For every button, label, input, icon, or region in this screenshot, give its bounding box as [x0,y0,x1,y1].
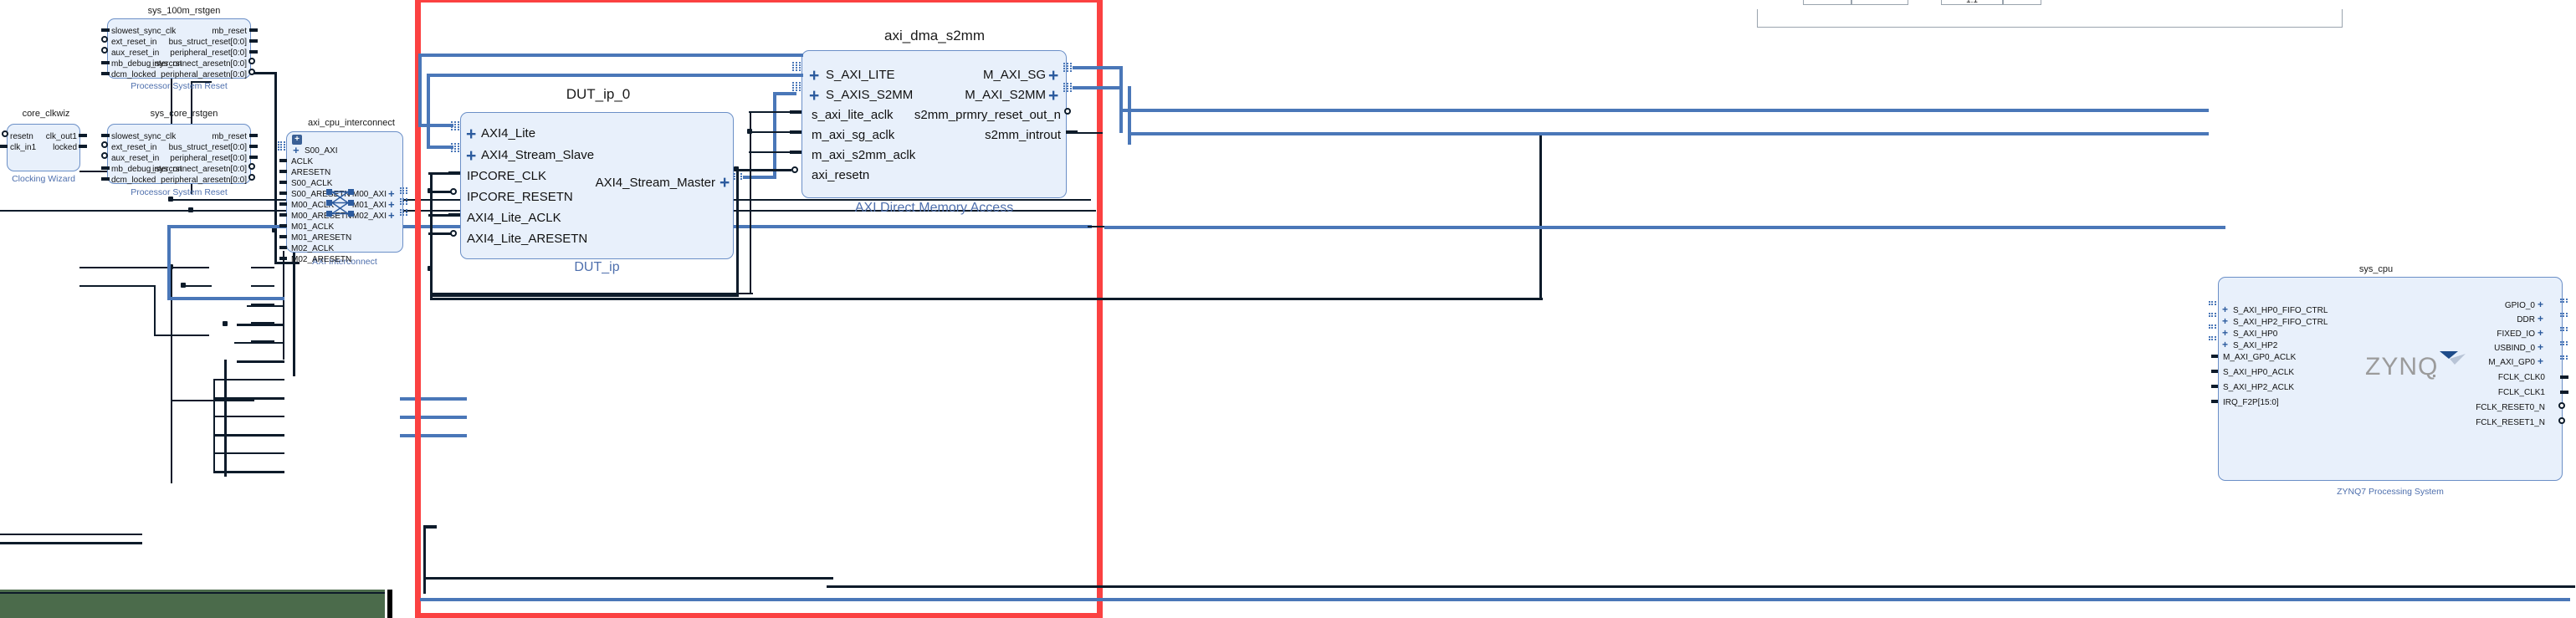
bus-m01axi [400,416,467,419]
wire-clkwiz-down [171,267,172,334]
sys-core-rstgen-title: sys_core_rstgen [109,109,259,119]
zynq-logo: ZYNQ [2365,353,2438,381]
toolbar-fragment-mid[interactable] [1851,0,1908,5]
canvas-top-strip [1757,9,2343,28]
sys-cpu-subtitle: ZYNQ7 Processing System [2218,487,2563,497]
toolbar-fragment-left[interactable] [1803,0,1851,5]
pin-zynq-fclk-reset0-bubble [2558,402,2565,409]
axi-dma-s2mm-subtitle: AXI Direct Memory Access [801,201,1067,216]
port-clkwiz-resetn[interactable]: resetn [10,133,33,141]
wire-dma-axi-resetn-h2 [431,294,739,297]
busstub-dma-s-axi-lite [792,62,801,71]
wire-left-bottom-riser [423,525,426,594]
port-zynq-fclk-reset1-n[interactable]: FCLK_RESET1_N [2401,419,2545,427]
wire-junction-b [188,207,193,212]
port-syscore-interconnect-aresetn[interactable]: interconnect_aresetn[0:0] [142,166,247,174]
busstub-zynq-hp2-fifo [2209,313,2216,317]
pin-icx-s00aclk [279,181,287,184]
pin-dma-m-axi-sg-aclk [790,130,801,134]
pin-syscore-in-4 [101,177,110,181]
pin-dma-m-axi-s2mm-aclk [790,151,801,154]
wire-locked-h2 [154,335,209,336]
sys-core-rstgen-subtitle: Processor System Reset [107,187,251,197]
pin-zynq-irq-f2p [2211,400,2218,403]
busstub-icx-m00-axi [400,187,407,194]
port-sys100m-bus-struct-reset[interactable]: bus_struct_reset[0:0] [151,38,247,47]
bus-plus-ddr[interactable]: + [2538,314,2543,324]
pin-syscore-in-3 [101,166,110,170]
port-dut-axi4-lite-aresetn[interactable]: AXI4_Lite_ARESETN [467,232,587,245]
toolbar-fragment-right[interactable] [2003,0,2041,5]
port-icx-m02-aresetn[interactable]: M02_ARESETN [291,256,351,264]
pin-clkwiz-clkout1 [79,134,87,137]
busstub-icx-s00-axi [278,141,285,151]
pin-zynq-s-axi-hp0-aclk [2211,370,2218,373]
port-syscore-peripheral-reset[interactable]: peripheral_reset[0:0] [151,155,247,163]
wire-icx-aresetn [237,324,284,326]
sys-cpu-title: sys_cpu [2251,264,2502,274]
pin-zynq-fclk-clk1 [2560,391,2568,394]
pin-clkwiz-locked [79,145,87,148]
core-clkwiz-subtitle: Clocking Wizard [7,174,80,184]
bus-plus-s-axi-lite[interactable]: + [809,67,819,84]
port-dma-s2mm-introut[interactable]: s2mm_introut [878,129,1061,141]
wire-bottom-black [827,585,2575,588]
sys-100m-rstgen-title: sys_100m_rstgen [109,6,259,16]
busstub-zynq-hp0 [2209,324,2216,329]
wire-bottom-left-long [0,592,385,594]
green-marker-swatch [0,590,385,618]
pin-dma-axi-resetn-bubble [791,166,798,173]
wire-left-bottom-4 [423,577,833,580]
pin-sys100m-out-2 [249,50,258,54]
bus-dma-sg-out [1073,66,1123,69]
port-dma-s2mm-prmry-reset-out-n[interactable]: s2mm_prmry_reset_out_n [878,109,1061,121]
pin-dma-s2mm-reset-out-bubble [1064,108,1071,115]
bus-plus-m02-axi[interactable]: + [388,210,395,221]
bus-stream-master-h2 [773,92,796,95]
wire-core-bottom [171,400,254,401]
bus-plus-m-axi-gp0[interactable]: + [2538,356,2543,366]
port-icx-s00-axi[interactable]: S00_AXI [305,147,337,156]
bus-m00-to-dut-lite-h [418,124,453,127]
block-design-canvas[interactable]: 1:1 [0,0,2576,618]
port-zynq-s-axi-hp0-aclk[interactable]: S_AXI_HP0_ACLK [2223,369,2294,377]
wire-core-down [171,333,172,483]
bus-plus-s-axi-hp0[interactable]: + [2222,328,2228,338]
pin-sys100m-in-2-bubble [101,47,108,54]
pin-icx-s00aresetn [279,192,287,195]
wire-locked-h [79,285,155,287]
port-dma-m-axi-s2mm-aclk[interactable]: m_axi_s2mm_aclk [812,149,915,161]
pin-sys100m-in-1-bubble [101,36,108,43]
wire-icx-s00aclk [234,342,284,344]
busstub-zynq-m-axi-gp0 [2560,355,2568,360]
port-zynq-fclk-clk1[interactable]: FCLK_CLK1 [2410,389,2545,397]
pin-dma-s-axi-lite-aclk [790,110,801,114]
port-dut-axi4-lite-aclk[interactable]: AXI4_Lite_ACLK [467,212,561,224]
wire-corerst-ext [183,285,212,287]
bus-m00-to-dut-lite-top [418,54,803,57]
bus-plus-s-axi-hp2-fifo-ctrl[interactable]: + [2222,316,2228,326]
zynq-logo-tick-icon [2438,350,2466,366]
wire-left-bottom-2 [0,542,142,544]
bus-plus-s-axi-hp2[interactable]: + [2222,340,2228,350]
port-clkwiz-clk-in1[interactable]: clk_in1 [10,144,36,152]
bus-zynq-gp0-return [1104,226,2225,229]
port-dut-ipcore-resetn[interactable]: IPCORE_RESETN [467,191,573,203]
port-dma-axi-resetn[interactable]: axi_resetn [812,169,869,181]
wire-peri-aresetn-v [274,72,277,264]
port-dut-axi4-stream-master[interactable]: AXI4_Stream_Master [544,176,715,189]
bus-stream-master-h [743,176,776,179]
wire-introut-out [1078,132,1103,134]
dut-ip-0-subtitle: DUT_ip [460,260,734,275]
wire-bottom-return-1 [430,298,1543,300]
bus-plus-usbind-0[interactable]: + [2538,342,2543,352]
pin-sys100m-out-1 [249,39,258,43]
wire-icx-bus-2 [293,251,295,376]
bus-m00-to-dut-slave-top [427,74,803,77]
bus-plus-fixed-io[interactable]: + [2538,328,2543,338]
bus-stream-master-v [773,92,776,178]
bus-dma-right-riser-2 [1128,86,1131,145]
port-dma-m-axi-sg[interactable]: M_AXI_SG [912,69,1046,81]
pin-clkwiz-clkin1 [0,145,8,148]
bus-dma-right-riser-1 [1119,66,1123,133]
bus-s00axi-in-h2 [167,297,284,300]
busstub-dma-m-axi-sg [1063,63,1073,72]
busstub-dma-m-axi-s2mm [1063,83,1073,92]
port-dma-s-axis-s2mm[interactable]: S_AXIS_S2MM [826,89,913,101]
port-zynq-s-axi-hp2-aclk[interactable]: S_AXI_HP2_ACLK [2223,384,2294,392]
axi-cpu-interconnect-title: axi_cpu_interconnect [284,118,418,128]
axi-dma-s2mm-title: axi_dma_s2mm [801,28,1068,44]
port-zynq-ddr[interactable]: DDR [2410,316,2535,324]
port-zynq-s-axi-hp0[interactable]: S_AXI_HP0 [2233,330,2277,339]
port-icx-m01-aresetn[interactable]: M01_ARESETN [291,234,351,243]
port-sys100m-peripheral-aresetn[interactable]: peripheral_aresetn[0:0] [142,71,247,79]
bus-plus-m-axi-s2mm[interactable]: + [1048,87,1058,105]
pin-icx-aclk [279,159,287,162]
busstub-icx-m01-axi [400,198,407,205]
bus-plus-axi4-stream-slave[interactable]: + [466,147,476,165]
pin-sys100m-in-3 [101,61,110,64]
busstub-zynq-fixedio [2560,327,2568,331]
pin-sys100m-out-0 [249,28,258,32]
sys-100m-rstgen-subtitle: Processor System Reset [107,81,251,91]
busstub-zynq-hp0-fifo [2209,301,2216,305]
bus-plus-gpio-0[interactable]: + [2538,299,2543,309]
bus-plus-s-axi-hp0-fifo-ctrl[interactable]: + [2222,304,2228,314]
bus-plus-m-axi-sg[interactable]: + [1048,67,1058,84]
busstub-zynq-usbind0 [2560,341,2568,345]
pin-syscore-out-0 [249,134,258,137]
port-syscore-bus-struct-reset[interactable]: bus_struct_reset[0:0] [151,144,247,152]
port-icx-m02-aclk[interactable]: M02_ACLK [291,245,334,253]
port-sys100m-interconnect-aresetn[interactable]: interconnect_aresetn[0:0] [142,60,247,69]
port-syscore-peripheral-aresetn[interactable]: peripheral_aresetn[0:0] [142,176,247,185]
dut-ip-0-title: DUT_ip_0 [460,86,736,103]
wire-junction-dut-2 [428,266,433,271]
wire-dma-axi-resetn [736,169,791,171]
wire-core-out1 [251,267,274,268]
wire-icx-aclk [247,305,284,307]
port-zynq-s-axi-hp0-fifo-ctrl[interactable]: S_AXI_HP0_FIFO_CTRL [2233,307,2328,315]
pin-icx-m02aresetn [279,257,287,260]
wire-icx-left-bundle-2 [224,360,227,477]
port-clkwiz-locked[interactable]: locked [33,144,77,152]
port-clkwiz-clk-out1[interactable]: clk_out1 [33,133,77,141]
wire-junction-dut-1 [428,188,433,193]
port-zynq-irq-f2p[interactable]: IRQ_F2P[15:0] [2223,399,2279,407]
wire-core-out2 [251,285,274,287]
wire-dma-axi-resetn-v [736,169,739,296]
bus-plus-axi4-stream-master[interactable]: + [720,174,730,192]
port-icx-aresetn[interactable]: ARESETN [291,169,330,177]
pin-syscore-out-4-bubble [248,174,255,181]
pin-syscore-in-0 [101,134,110,137]
port-dut-ipcore-clk[interactable]: IPCORE_CLK [467,170,546,182]
busstub-zynq-ddr [2560,313,2568,317]
wire-dma-s2mm-aclk [749,151,791,153]
busstub-icx-m02-axi [400,209,407,216]
pin-sys100m-out-4-bubble [248,69,255,75]
bus-m00-to-dut-slave-h [427,146,453,149]
wire-icx-s00aresetn [237,360,284,363]
pin-syscore-out-2 [249,156,258,159]
port-zynq-fixed-io[interactable]: FIXED_IO [2410,330,2535,339]
wire-junction-e [181,283,186,288]
wire-dma-sg-aclk [749,131,791,133]
bus-m02axi [400,434,467,437]
zynq-logo-text: ZYNQ [2365,353,2438,381]
port-zynq-s-axi-hp2-fifo-ctrl[interactable]: S_AXI_HP2_FIFO_CTRL [2233,319,2328,327]
pin-dma-s2mm-introut [1066,130,1078,134]
busstub-dma-s-axis-s2mm [792,82,801,91]
pin-syscore-in-1-bubble [101,141,108,148]
toolbar-zoom-field[interactable]: 1:1 [1941,0,2003,5]
pin-icx-m01aclk [279,224,287,227]
busstub-zynq-gpio0 [2560,299,2568,303]
crossbar-icon [325,186,366,227]
pin-bottom-arrow [425,525,437,529]
port-zynq-fclk-reset0-n[interactable]: FCLK_RESET0_N [2401,404,2545,412]
pin-zynq-fclk-reset1-bubble [2558,417,2565,424]
pin-icx-m00aresetn [279,213,287,217]
wire-junction-dma-resetn [734,166,739,171]
wire-left-bottom-3 [0,534,142,535]
pin-sys100m-in-0 [101,28,110,32]
bus-dma-s2mm-out [1073,86,1123,89]
bus-m00axi [400,397,467,401]
port-zynq-s-axi-hp2[interactable]: S_AXI_HP2 [2233,342,2277,350]
port-sys100m-peripheral-reset[interactable]: peripheral_reset[0:0] [151,49,247,58]
port-syscore-mb-reset[interactable]: mb_reset [151,133,247,141]
bus-plus-s00-axi[interactable]: + [293,145,300,156]
pin-icx-m01aresetn [279,235,287,238]
wire-dma-clk-feed [750,151,751,294]
wire-dma-lite-aclk [749,111,791,113]
bus-bottom-inside-selection [420,598,2570,601]
pin-icx-m00aclk [279,202,287,206]
port-sys100m-mb-reset[interactable]: mb_reset [151,28,247,36]
pin-sys100m-in-4 [101,72,110,75]
busstub-zynq-hp2 [2209,336,2216,340]
bus-plus-s-axis-s2mm[interactable]: + [809,87,819,105]
pin-syscore-out-1 [249,145,258,148]
wire-bottom-return-v [1539,134,1542,299]
pin-icx-aresetn [279,170,287,173]
pin-zynq-fclk-clk0 [2560,375,2568,379]
port-zynq-usbind-0[interactable]: USBIND_0 [2410,345,2535,353]
port-dma-s-axi-lite[interactable]: S_AXI_LITE [826,69,895,81]
bus-m00-to-dut-slave-v [427,74,430,147]
bus-s00axi-in-v [167,225,171,300]
pin-zynq-m-axi-gp0-aclk [2211,355,2218,358]
port-icx-aclk[interactable]: ACLK [291,158,313,166]
port-dut-axi4-lite[interactable]: AXI4_Lite [481,127,535,140]
bus-plus-axi4-lite[interactable]: + [466,125,476,143]
toolbar-zoom-value: 1:1 [1966,0,1978,4]
bus-to-zynq-hp0 [1119,109,2209,112]
core-clkwiz-title: core_clkwiz [8,109,84,119]
pin-zynq-s-axi-hp2-aclk [2211,385,2218,388]
bus-to-zynq-hp2 [1128,132,2209,135]
port-dut-axi4-stream-slave[interactable]: AXI4_Stream_Slave [481,149,594,161]
pin-syscore-in-2-bubble [101,152,108,159]
port-zynq-gpio-0[interactable]: GPIO_0 [2410,302,2535,310]
wire-junction-f [223,321,228,326]
port-zynq-m-axi-gp0-aclk[interactable]: M_AXI_GP0_ACLK [2223,354,2296,362]
pin-syscore-out-3-bubble [248,163,255,170]
wire-locked-v [154,285,156,335]
pin-icx-m02aclk [279,246,287,249]
wire-junction-dma-aclk [747,129,752,134]
bus-m00-to-dut-lite-v [418,54,422,125]
port-dma-m-axi-s2mm[interactable]: M_AXI_S2MM [912,89,1046,101]
wire-green-divider [387,590,392,618]
wire-clkwiz-out [79,267,209,268]
pin-sys100m-out-3-bubble [248,58,255,64]
pin-clkwiz-resetn-bubble [2,130,8,137]
zynq-logo-dot [2433,375,2435,377]
wire-icx-left-bundle-1 [213,379,215,472]
